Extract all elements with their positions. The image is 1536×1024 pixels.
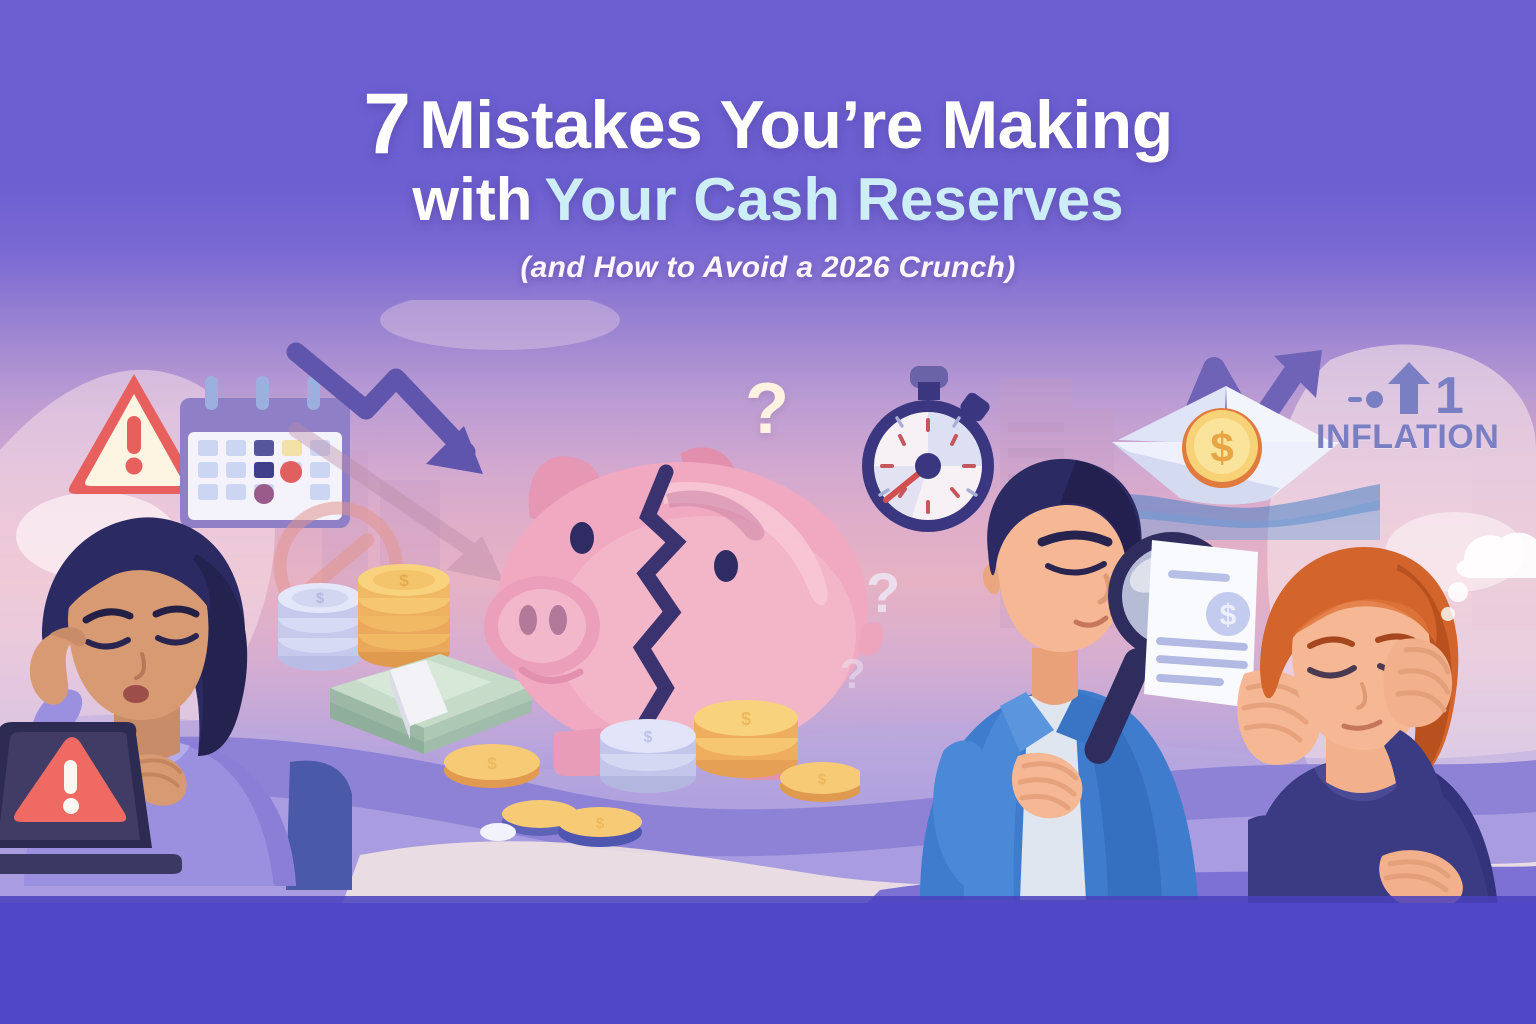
svg-text:$: $ <box>1220 599 1237 632</box>
inflation-indicator: 1 <box>1316 362 1496 418</box>
poster-canvas: $ $ <box>0 0 1536 1024</box>
inflation-value: 1 <box>1435 374 1464 418</box>
subtitle: (and How to Avoid a 2026 Crunch) <box>0 251 1536 285</box>
headline-line-1: 7Mistakes You’re Making <box>0 86 1536 163</box>
question-mark-small: ? <box>840 650 866 698</box>
bottom-band <box>0 903 1536 1024</box>
headline-line-2-lead: with <box>412 166 532 233</box>
inflation-dash-icon <box>1348 397 1362 402</box>
desk-coins-cluster: $ $ $ $ $ <box>440 700 860 860</box>
inflation-dot-icon <box>1366 391 1383 408</box>
inflation-badge: 1 INFLATION <box>1316 362 1496 457</box>
thought-bubble-icon <box>1430 528 1536 638</box>
svg-text:$: $ <box>818 771 827 788</box>
inflation-label: INFLATION <box>1316 418 1496 457</box>
svg-text:$: $ <box>487 754 497 773</box>
svg-text:$: $ <box>644 729 653 746</box>
inflation-up-arrow-icon <box>1387 360 1431 416</box>
question-mark-large: ? <box>745 368 789 450</box>
headline-line-2: withYour Cash Reserves <box>0 163 1536 237</box>
svg-text:$: $ <box>399 571 409 590</box>
headline-number: 7 <box>363 76 409 172</box>
headline-line-1-text: Mistakes You’re Making <box>419 87 1173 163</box>
title-block: 7Mistakes You’re Making withYour Cash Re… <box>0 86 1536 285</box>
laptop-with-alert <box>0 716 206 876</box>
svg-text:$: $ <box>596 815 605 832</box>
svg-text:$: $ <box>741 709 751 729</box>
question-mark-medium: ? <box>866 560 900 625</box>
headline-line-2-accent: Your Cash Reserves <box>544 166 1123 233</box>
